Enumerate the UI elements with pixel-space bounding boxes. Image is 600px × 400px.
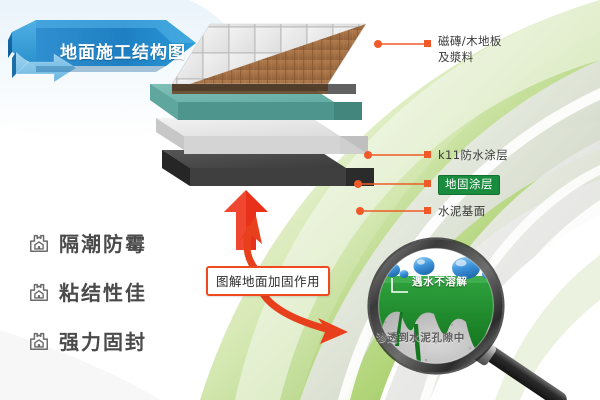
label-substrate: 水泥基面	[438, 204, 486, 219]
label-finish-line1: 磁磚/木地板	[438, 33, 534, 49]
feature-label: 隔潮防霉	[59, 228, 147, 257]
infographic-canvas: 地面施工结构图	[0, 0, 600, 400]
magnifier-icon	[340, 230, 600, 400]
leader-square-k11	[424, 151, 431, 158]
label-digu: 地固涂层	[438, 175, 500, 195]
leader-square-substrate	[424, 207, 431, 214]
label-k11: k11防水涂层	[438, 148, 508, 163]
label-digu-badge: 地固涂层	[438, 175, 500, 195]
red-curved-arrow-down	[262, 292, 348, 344]
feature-item: 强力固封	[28, 326, 218, 355]
magnifier-detail-view: 遇水不溶解 渗透到水泥孔隙中	[340, 230, 600, 400]
magnifier-annotation-bottom: 渗透到水泥孔隙中	[376, 330, 465, 345]
leader-square-finish	[424, 40, 431, 47]
house-outline-icon	[28, 232, 50, 254]
feature-item: 隔潮防霉	[28, 228, 218, 257]
feature-label: 强力固封	[59, 326, 147, 355]
leader-square-digu	[424, 180, 431, 187]
house-outline-icon	[28, 330, 50, 352]
label-finish-line2: 及漿料	[438, 49, 534, 65]
house-outline-icon	[28, 281, 50, 303]
callout-box: 图解地面加固作用	[206, 266, 330, 296]
label-finish: 磁磚/木地板 及漿料	[438, 33, 534, 65]
feature-item: 粘结性佳	[28, 277, 218, 306]
feature-label: 粘结性佳	[59, 277, 147, 306]
magnifier-annotation-top: 遇水不溶解	[412, 274, 468, 289]
feature-list: 隔潮防霉 粘结性佳 强力固封	[28, 228, 218, 375]
